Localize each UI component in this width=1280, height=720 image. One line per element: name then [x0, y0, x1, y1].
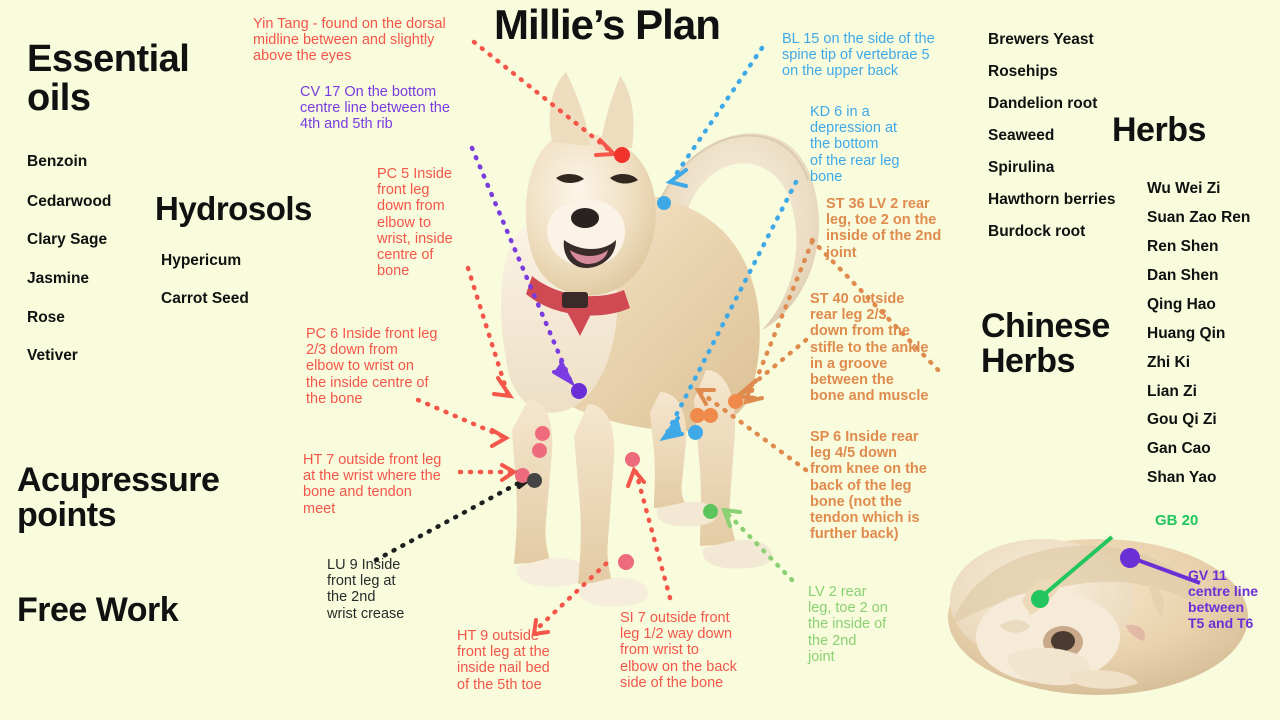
point-pc-5 — [535, 426, 550, 441]
point-gb-20 — [1031, 590, 1049, 608]
point-si-7 — [625, 452, 640, 467]
label-gb-20: GB 20 — [1155, 512, 1198, 529]
heading-acupressure-points: Acupressure points — [17, 463, 219, 532]
infographic-canvas: Millie’s Plan Essential oils Benzoin Ced… — [0, 0, 1280, 720]
point-bl-15 — [657, 196, 671, 210]
heading-essential-oils: Essential oils — [27, 40, 189, 118]
list-item-essential-4: Rose — [27, 310, 65, 326]
list-item-herb-5: Hawthorn berries — [988, 192, 1115, 208]
list-item-chinese-8: Gou Qi Zi — [1147, 412, 1217, 428]
list-item-chinese-0: Wu Wei Zi — [1147, 181, 1220, 197]
annotation-lu-9: LU 9 Inside front leg at the 2nd wrist c… — [327, 557, 437, 622]
annotation-st-40: ST 40 outside rear leg 2/3 down from the… — [810, 291, 960, 405]
annotation-st-36-lv-2: ST 36 LV 2 rear leg, toe 2 on the inside… — [826, 196, 971, 261]
point-lu-9 — [527, 473, 542, 488]
point-st-40 — [728, 394, 743, 409]
annotation-yin-tang: Yin Tang - found on the dorsal midline b… — [253, 16, 478, 65]
list-item-chinese-3: Dan Shen — [1147, 268, 1218, 284]
list-item-herb-1: Rosehips — [988, 64, 1058, 80]
point-pc-6 — [532, 443, 547, 458]
annotation-cv-17: CV 17 On the bottom centre line between … — [300, 84, 485, 133]
list-item-essential-3: Jasmine — [27, 271, 89, 287]
list-item-herb-4: Spirulina — [988, 160, 1054, 176]
annotation-pc-6: PC 6 Inside front leg 2/3 down from elbo… — [306, 326, 471, 407]
label-gv-11: GV 11 centre line between T5 and T6 — [1188, 567, 1258, 631]
list-item-chinese-6: Zhi Ki — [1147, 355, 1190, 371]
annotation-bl-15: BL 15 on the side of the spine tip of ve… — [782, 31, 972, 80]
list-item-herb-6: Burdock root — [988, 224, 1085, 240]
point-kd-6 — [688, 425, 703, 440]
annotation-ht-7: HT 7 outside front leg at the wrist wher… — [303, 452, 473, 517]
annotation-sp-6: SP 6 Inside rear leg 4/5 down from knee … — [810, 429, 960, 543]
list-item-chinese-5: Huang Qin — [1147, 326, 1225, 342]
point-gv-11 — [1120, 548, 1140, 568]
list-item-chinese-9: Gan Cao — [1147, 441, 1211, 457]
annotation-pc-5: PC 5 Inside front leg down from elbow to… — [377, 166, 482, 280]
list-item-herb-3: Seaweed — [988, 128, 1054, 144]
list-item-chinese-1: Suan Zao Ren — [1147, 210, 1250, 226]
point-ht-9 — [618, 554, 634, 570]
list-item-hydrosol-1: Carrot Seed — [161, 291, 249, 307]
page-title: Millie’s Plan — [494, 4, 720, 47]
point-st-36 — [703, 408, 718, 423]
list-item-herb-0: Brewers Yeast — [988, 32, 1094, 48]
list-item-chinese-4: Qing Hao — [1147, 297, 1216, 313]
point-yin-tang — [614, 147, 630, 163]
list-item-essential-1: Cedarwood — [27, 194, 111, 210]
list-item-herb-2: Dandelion root — [988, 96, 1097, 112]
list-item-essential-5: Vetiver — [27, 348, 78, 364]
list-item-hydrosol-0: Hypericum — [161, 253, 241, 269]
annotation-kd-6: KD 6 in a depression at the bottom of th… — [810, 104, 955, 185]
annotation-si-7: SI 7 outside front leg 1/2 way down from… — [620, 610, 780, 691]
list-item-chinese-7: Lian Zi — [1147, 384, 1197, 400]
annotation-lv-2: LV 2 rear leg, toe 2 on the inside of th… — [808, 584, 918, 665]
point-cv-17 — [571, 383, 587, 399]
list-item-chinese-2: Ren Shen — [1147, 239, 1218, 255]
list-item-essential-0: Benzoin — [27, 154, 87, 170]
list-item-chinese-10: Shan Yao — [1147, 470, 1217, 486]
heading-free-work: Free Work — [17, 593, 178, 628]
point-lv-2 — [703, 504, 718, 519]
heading-chinese-herbs: Chinese Herbs — [981, 309, 1110, 378]
annotation-ht-9: HT 9 outside front leg at the inside nai… — [457, 628, 592, 693]
list-item-essential-2: Clary Sage — [27, 232, 107, 248]
heading-hydrosols: Hydrosols — [155, 192, 312, 226]
heading-herbs: Herbs — [1112, 113, 1206, 148]
